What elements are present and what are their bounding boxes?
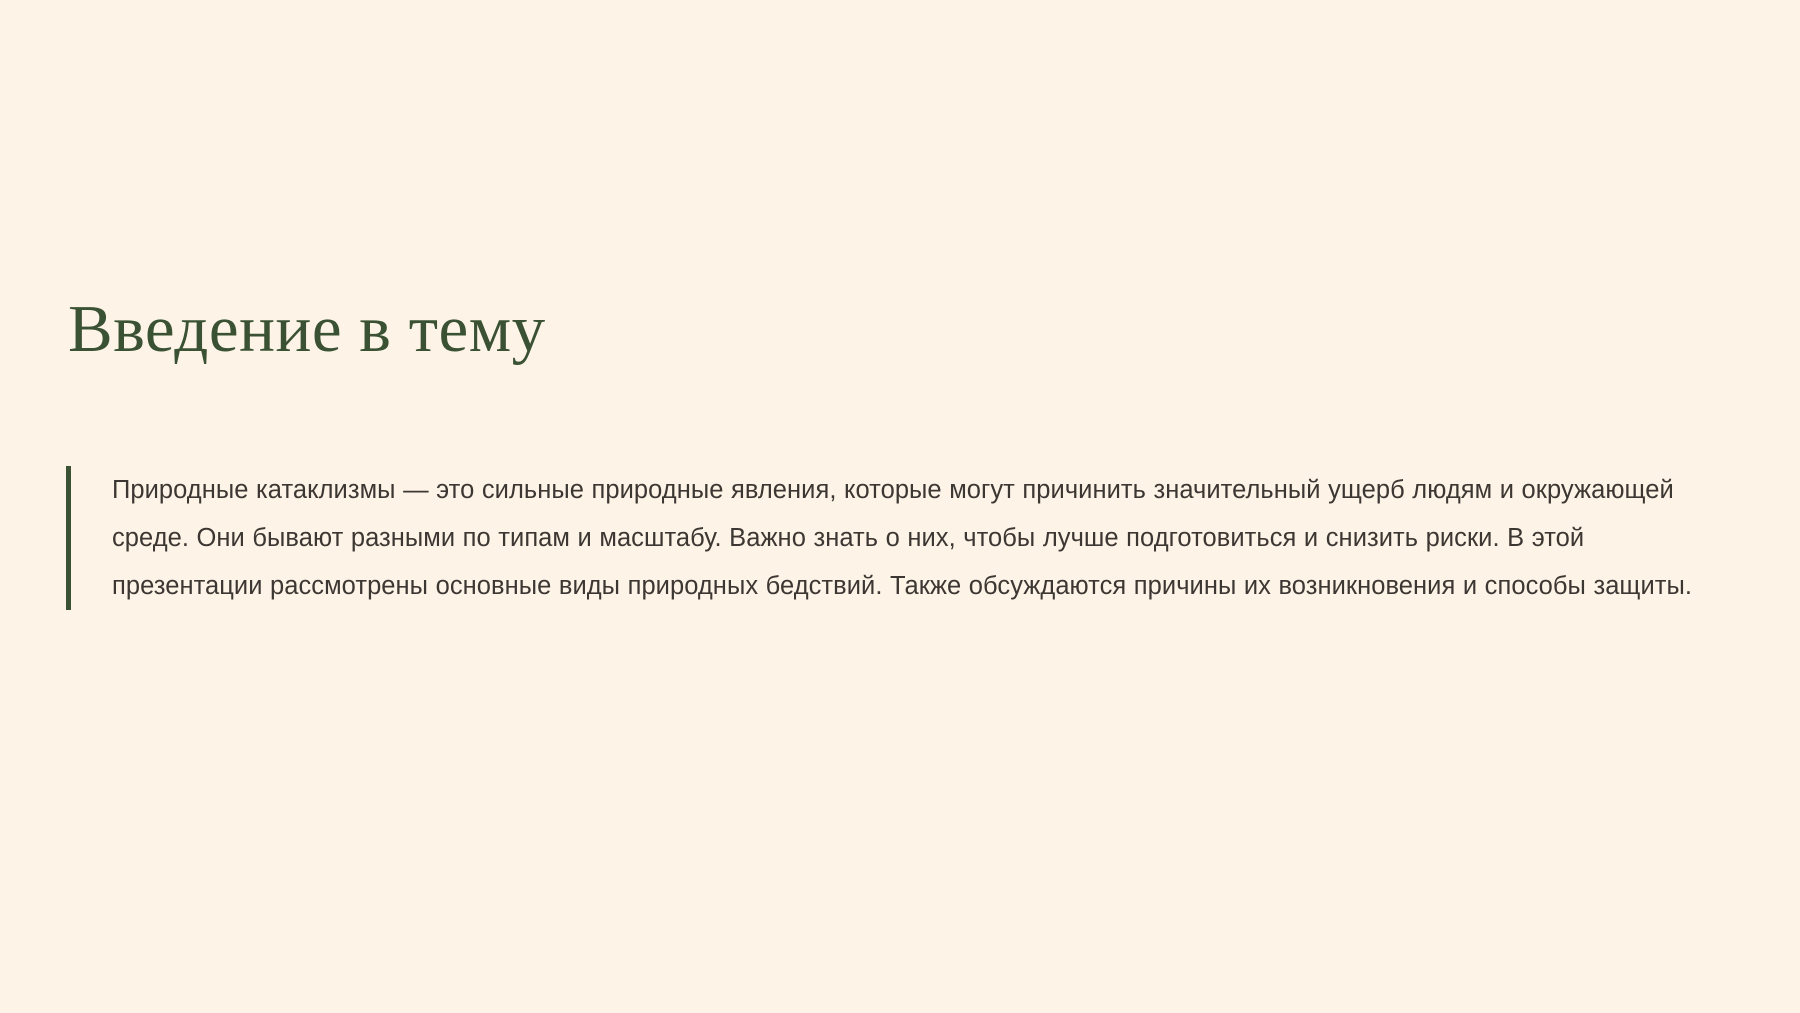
presentation-slide: Введение в тему Природные катаклизмы — э…	[0, 0, 1800, 1013]
slide-title: Введение в тему	[68, 294, 546, 364]
body-content-block: Природные катаклизмы — это сильные приро…	[66, 466, 1726, 610]
slide-body-paragraph: Природные катаклизмы — это сильные приро…	[71, 466, 1726, 610]
